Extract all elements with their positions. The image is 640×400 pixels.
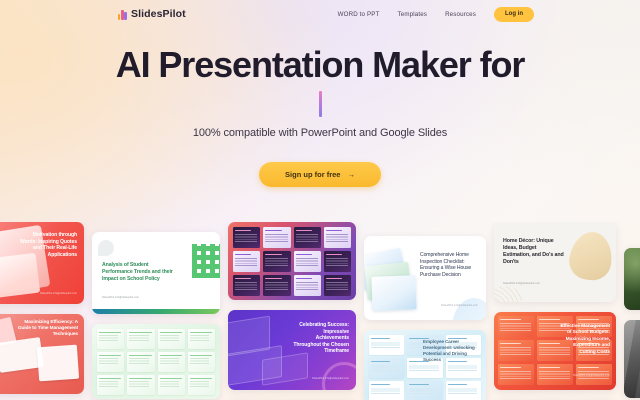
nav-item-word-to-ppt[interactable]: WORD to PPT [338, 11, 380, 18]
slide-thumbnail [369, 358, 404, 378]
template-card[interactable]: Celebrating Success: Impressive Achievem… [228, 310, 356, 390]
slide-thumbnail-grid [97, 329, 215, 394]
template-card[interactable]: Effective Management of School Budgets: … [494, 312, 616, 390]
slide-thumbnail [158, 375, 185, 395]
gallery-column: Comprehensive Home Inspection Checklist:… [364, 222, 486, 400]
slide-thumbnail [446, 381, 481, 400]
decorative-ring-icon [322, 362, 356, 390]
slide-thumbnail [233, 251, 260, 272]
hero-section: AI Presentation Maker for 100% compatibl… [0, 44, 640, 187]
template-card[interactable]: Comprehensive Home Inspection Checklist:… [364, 236, 486, 320]
slide-thumbnail [97, 329, 124, 349]
slide-thumbnail [233, 227, 260, 248]
template-card-meta: SlidesPilot info@slidespilot.com [312, 377, 349, 381]
gallery-column [624, 222, 640, 400]
hero-subtitle: 100% compatible with PowerPoint and Goog… [0, 127, 640, 139]
slide-thumbnail [294, 227, 321, 248]
template-card[interactable]: Motivation through Words: Inspiring Quot… [0, 222, 84, 304]
signup-button-label: Sign up for free [285, 170, 340, 179]
login-button[interactable]: Log in [494, 7, 534, 22]
slide-thumbnail [233, 275, 260, 296]
slide-thumbnail [97, 375, 124, 395]
decorative-wave [452, 298, 486, 320]
slide-thumbnail [369, 381, 404, 400]
slide-thumbnail [127, 375, 154, 395]
slide-thumbnail [294, 275, 321, 296]
template-card-title: Celebrating Success: Impressive Achievem… [289, 322, 349, 355]
decorative-grid-icon [192, 244, 220, 278]
gallery-column: Home Décor: Unique Ideas, Budget Estimat… [494, 222, 616, 400]
slide-thumbnail [294, 251, 321, 272]
nav-item-templates[interactable]: Templates [398, 11, 428, 18]
slide-thumbnail [407, 381, 442, 400]
site-header: SlidesPilot WORD to PPT Templates Resour… [0, 0, 640, 28]
template-card[interactable]: Employee Career Development: Unlocking P… [364, 330, 486, 400]
gallery-column: Motivation through Words: Inspiring Quot… [0, 222, 84, 400]
gallery-column: Celebrating Success: Impressive Achievem… [228, 222, 356, 400]
template-card-title: Employee Career Development: Unlocking P… [423, 339, 479, 363]
slide-thumbnail [324, 227, 351, 248]
main-navigation: WORD to PPT Templates Resources Log in [338, 7, 534, 22]
template-card-title: Comprehensive Home Inspection Checklist:… [420, 252, 478, 278]
template-card[interactable] [228, 222, 356, 300]
brand-name-label: SlidesPilot [131, 8, 186, 20]
template-card-title: Home Décor: Unique Ideas, Budget Estimat… [503, 238, 565, 266]
decorative-sheet-stack [364, 250, 420, 308]
template-card-title: Maximizing Efficiency: A Guide to Time M… [16, 320, 78, 339]
slide-thumbnail [158, 352, 185, 372]
slide-thumbnail [158, 329, 185, 349]
template-card-meta: SlidesPilot info@slidespilot.com [102, 296, 139, 300]
slide-thumbnail [324, 251, 351, 272]
decorative-blob-icon [98, 240, 114, 256]
template-card[interactable] [92, 324, 220, 399]
template-card-title: Effective Management of School Budgets: … [556, 324, 610, 356]
template-card-title: Analysis of Student Performance Trends a… [102, 262, 176, 282]
template-card[interactable]: Analysis of Student Performance Trends a… [92, 232, 220, 314]
slide-thumbnail [263, 251, 290, 272]
slidespilot-logo-icon [118, 9, 127, 20]
slide-thumbnail [324, 275, 351, 296]
template-card[interactable]: Home Décor: Unique Ideas, Budget Estimat… [494, 222, 616, 302]
decorative-heart-shape-icon [567, 229, 615, 282]
slide-thumbnail [127, 352, 154, 372]
slide-thumbnail [188, 329, 215, 349]
slide-thumbnail [498, 340, 534, 361]
gallery-column: Analysis of Student Performance Trends a… [92, 222, 220, 400]
page-title: AI Presentation Maker for [0, 44, 640, 85]
decorative-arcs-icon [494, 286, 522, 302]
template-card-meta: SlidesPilot info@slidespilot.com [441, 304, 478, 308]
slide-thumbnail [188, 375, 215, 395]
slide-thumbnail [263, 275, 290, 296]
signup-free-button[interactable]: Sign up for free → [259, 162, 381, 187]
slide-thumbnail [263, 227, 290, 248]
decorative-photo [37, 345, 79, 382]
nav-item-resources[interactable]: Resources [445, 11, 476, 18]
slide-thumbnail [97, 352, 124, 372]
template-gallery: Motivation through Words: Inspiring Quot… [0, 222, 640, 400]
typing-animation-line [0, 87, 640, 121]
slide-thumbnail-grid [233, 227, 351, 295]
decorative-photo [0, 253, 40, 300]
decorative-sheet [371, 275, 416, 311]
decorative-footer-bar [92, 309, 220, 314]
template-card[interactable] [624, 320, 640, 398]
template-card-meta: SlidesPilot info@slidespilot.com [40, 292, 77, 296]
brand-logo[interactable]: SlidesPilot [118, 8, 186, 20]
template-card[interactable] [624, 248, 640, 310]
slide-thumbnail [498, 364, 534, 385]
arrow-right-icon: → [347, 170, 355, 179]
slide-thumbnail [127, 329, 154, 349]
slide-thumbnail [369, 335, 404, 355]
template-card-title: Motivation through Words: Inspiring Quot… [19, 232, 77, 258]
slide-thumbnail [188, 352, 215, 372]
template-card-meta: SlidesPilot info@slidespilot.com [503, 282, 540, 286]
text-caret-icon [319, 91, 322, 117]
template-card-meta: SlidesPilot info@slidespilot.com [573, 374, 610, 378]
slide-thumbnail [537, 364, 573, 385]
template-card[interactable]: Maximizing Efficiency: A Guide to Time M… [0, 314, 84, 394]
cta-container: Sign up for free → [0, 162, 640, 187]
slide-thumbnail [498, 316, 534, 337]
